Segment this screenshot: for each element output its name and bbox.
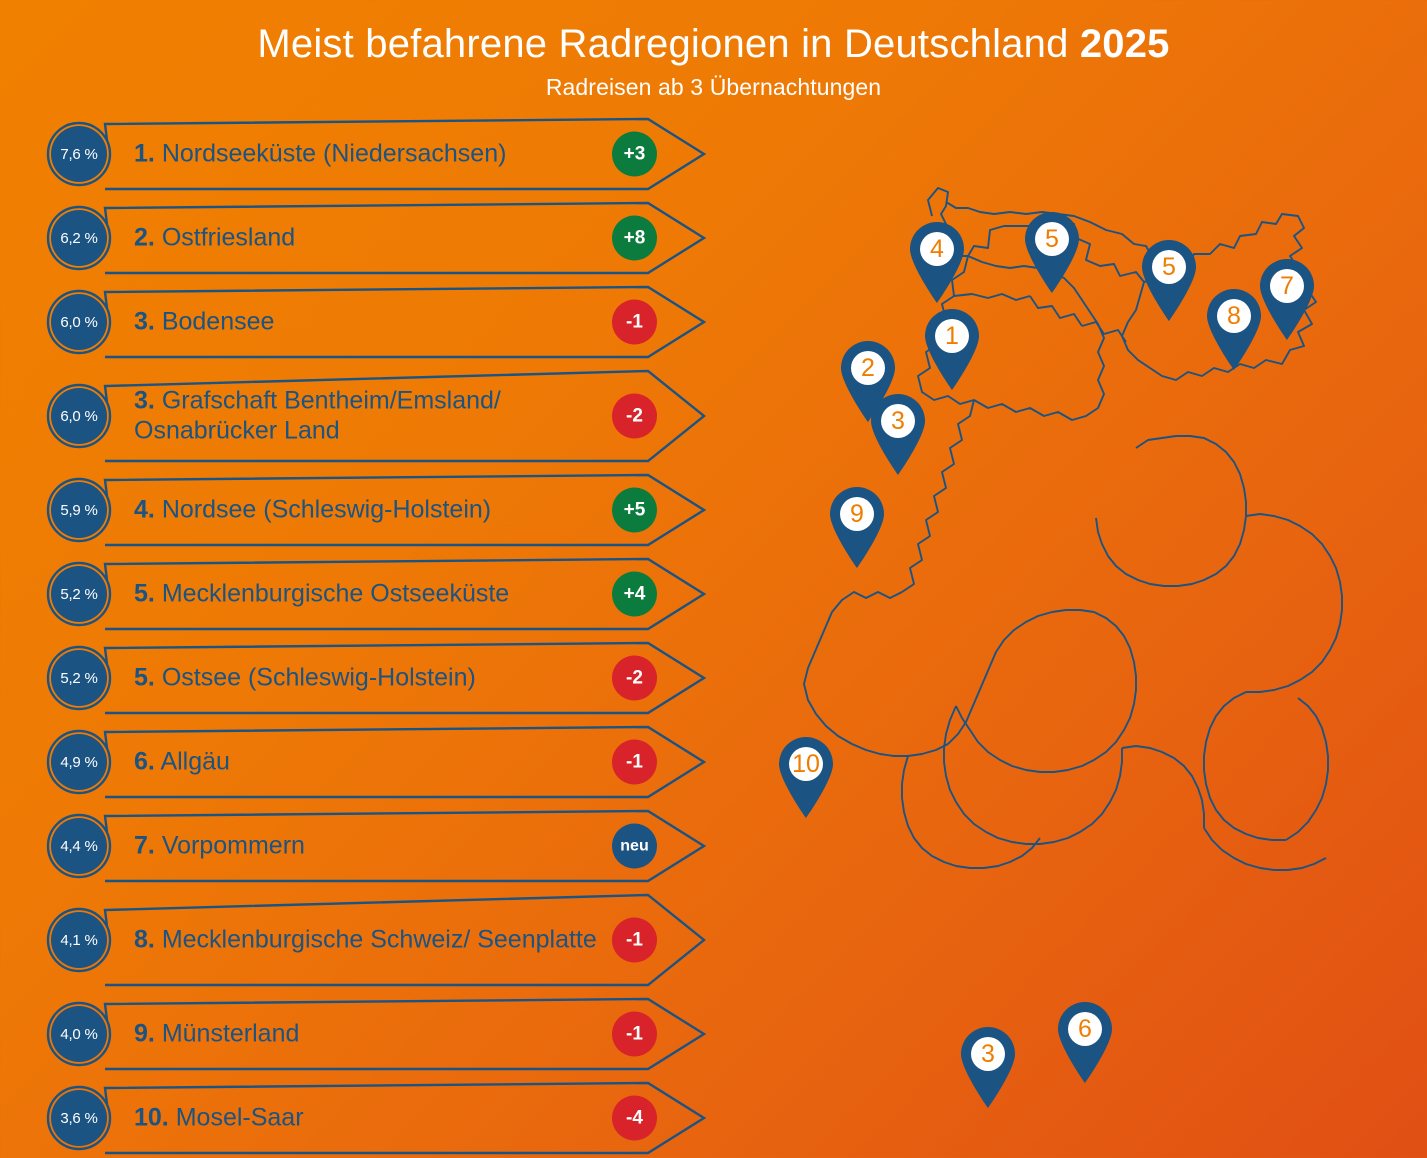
map-pin[interactable]: 7 (1256, 258, 1318, 340)
region-name: Vorpommern (162, 831, 305, 859)
percentage-circle: 6,0 % (51, 388, 107, 444)
region-label: 8. Mecklenburgische Schweiz/ Seenplatte (134, 925, 624, 955)
ranking-row[interactable]: 6,0 %3. Bodensee-1 (44, 285, 704, 359)
percentage-circle: 6,2 % (51, 210, 107, 266)
germany-outline-map (742, 168, 1424, 1080)
region-label: 10. Mosel-Saar (134, 1103, 624, 1133)
map-pin-icon (1054, 1001, 1116, 1083)
region-label: 9. Münsterland (134, 1019, 624, 1049)
map-pin[interactable]: 3 (867, 393, 929, 475)
region-label: 3. Bodensee (134, 307, 624, 337)
ranking-row[interactable]: 6,0 %3. Grafschaft Bentheim/Emsland/ Osn… (44, 369, 704, 463)
map-pin[interactable]: 4 (906, 221, 968, 303)
percentage-circle: 4,4 % (51, 818, 107, 874)
map-pin[interactable]: 1 (921, 308, 983, 390)
region-name: Nordseeküste (Niedersachsen) (162, 139, 507, 167)
percentage-circle: 4,1 % (51, 912, 107, 968)
rank-position: 9. (134, 1019, 155, 1047)
percentage-circle: 7,6 % (51, 126, 107, 182)
ranking-row[interactable]: 7,6 %1. Nordseeküste (Niedersachsen)+3 (44, 117, 704, 191)
rank-position: 5. (134, 579, 155, 607)
map-pin-icon (1203, 288, 1265, 370)
rank-change-badge: neu (612, 824, 657, 869)
rank-change-badge: +5 (612, 488, 657, 533)
rank-change-badge: -2 (612, 394, 657, 439)
map-pin-icon (867, 393, 929, 475)
percentage-circle: 5,2 % (51, 566, 107, 622)
region-label: 5. Mecklenburgische Ostseeküste (134, 579, 624, 609)
map-pin-icon (1138, 239, 1200, 321)
rank-change-badge: -2 (612, 656, 657, 701)
rank-position: 10. (134, 1103, 169, 1131)
region-name: Bodensee (162, 307, 275, 335)
region-name: Mosel-Saar (176, 1103, 304, 1131)
ranking-row[interactable]: 4,0 %9. Münsterland-1 (44, 997, 704, 1071)
map-pin-icon (775, 736, 837, 818)
rank-position: 4. (134, 495, 155, 523)
percentage-circle: 4,0 % (51, 1006, 107, 1062)
region-name: Ostfriesland (162, 223, 295, 251)
region-label: 6. Allgäu (134, 747, 624, 777)
map-pin-icon (1256, 258, 1318, 340)
ranking-row[interactable]: 5,2 %5. Ostsee (Schleswig-Holstein)-2 (44, 641, 704, 715)
map-pin[interactable]: 6 (1054, 1001, 1116, 1083)
ranking-list: 7,6 %1. Nordseeküste (Niedersachsen)+36,… (44, 117, 704, 1158)
region-name: Grafschaft Bentheim/Emsland/ Osnabrücker… (134, 387, 501, 445)
rank-change-badge: -1 (612, 740, 657, 785)
region-label: 7. Vorpommern (134, 831, 624, 861)
map-pin[interactable]: 9 (826, 486, 888, 568)
rank-position: 7. (134, 831, 155, 859)
map-pin[interactable]: 3 (957, 1026, 1019, 1108)
region-name: Mecklenburgische Schweiz/ Seenplatte (162, 925, 597, 953)
region-label: 1. Nordseeküste (Niedersachsen) (134, 139, 624, 169)
region-name: Allgäu (160, 747, 230, 775)
ranking-row[interactable]: 6,2 %2. Ostfriesland+8 (44, 201, 704, 275)
region-label: 4. Nordsee (Schleswig-Holstein) (134, 495, 624, 525)
rank-position: 2. (134, 223, 155, 251)
rank-change-badge: -1 (612, 1012, 657, 1057)
region-name: Ostsee (Schleswig-Holstein) (162, 663, 476, 691)
rank-position: 1. (134, 139, 155, 167)
map-pin[interactable]: 5 (1021, 211, 1083, 293)
percentage-circle: 4,9 % (51, 734, 107, 790)
map-pin-icon (921, 308, 983, 390)
rank-position: 6. (134, 747, 155, 775)
rank-change-badge: +3 (612, 132, 657, 177)
region-label: 3. Grafschaft Bentheim/Emsland/ Osnabrüc… (134, 387, 624, 446)
map-pin-icon (906, 221, 968, 303)
rank-change-badge: -1 (612, 918, 657, 963)
rank-change-badge: +4 (612, 572, 657, 617)
page-subtitle: Radreisen ab 3 Übernachtungen (0, 74, 1427, 101)
ranking-row[interactable]: 4,1 %8. Mecklenburgische Schweiz/ Seenpl… (44, 893, 704, 987)
page-title-year: 2025 (1080, 22, 1170, 66)
map-pin[interactable]: 8 (1203, 288, 1265, 370)
header: Meist befahrene Radregionen in Deutschla… (0, 0, 1427, 101)
rank-change-badge: +8 (612, 216, 657, 261)
rank-position: 3. (134, 307, 155, 335)
rank-change-badge: -4 (612, 1096, 657, 1141)
ranking-row[interactable]: 3,6 %10. Mosel-Saar-4 (44, 1081, 704, 1155)
percentage-circle: 5,2 % (51, 650, 107, 706)
rank-change-badge: -1 (612, 300, 657, 345)
region-name: Nordsee (Schleswig-Holstein) (162, 495, 491, 523)
rank-position: 5. (134, 663, 155, 691)
map-pin-icon (1021, 211, 1083, 293)
region-label: 2. Ostfriesland (134, 223, 624, 253)
rank-position: 8. (134, 925, 155, 953)
ranking-row[interactable]: 4,4 %7. Vorpommernneu (44, 809, 704, 883)
map-panel: 4557812391036 (742, 168, 1424, 1080)
percentage-circle: 5,9 % (51, 482, 107, 538)
map-pin-icon (957, 1026, 1019, 1108)
region-name: Mecklenburgische Ostseeküste (162, 579, 509, 607)
page-title: Meist befahrene Radregionen in Deutschla… (0, 22, 1427, 66)
rank-position: 3. (134, 387, 155, 415)
map-pin-icon (826, 486, 888, 568)
map-pin[interactable]: 10 (775, 736, 837, 818)
percentage-circle: 6,0 % (51, 294, 107, 350)
ranking-row[interactable]: 5,9 %4. Nordsee (Schleswig-Holstein)+5 (44, 473, 704, 547)
region-label: 5. Ostsee (Schleswig-Holstein) (134, 663, 624, 693)
ranking-row[interactable]: 5,2 %5. Mecklenburgische Ostseeküste+4 (44, 557, 704, 631)
percentage-circle: 3,6 % (51, 1090, 107, 1146)
region-name: Münsterland (162, 1019, 300, 1047)
map-pin[interactable]: 5 (1138, 239, 1200, 321)
ranking-row[interactable]: 4,9 %6. Allgäu-1 (44, 725, 704, 799)
page-title-main: Meist befahrene Radregionen in Deutschla… (257, 22, 1079, 66)
